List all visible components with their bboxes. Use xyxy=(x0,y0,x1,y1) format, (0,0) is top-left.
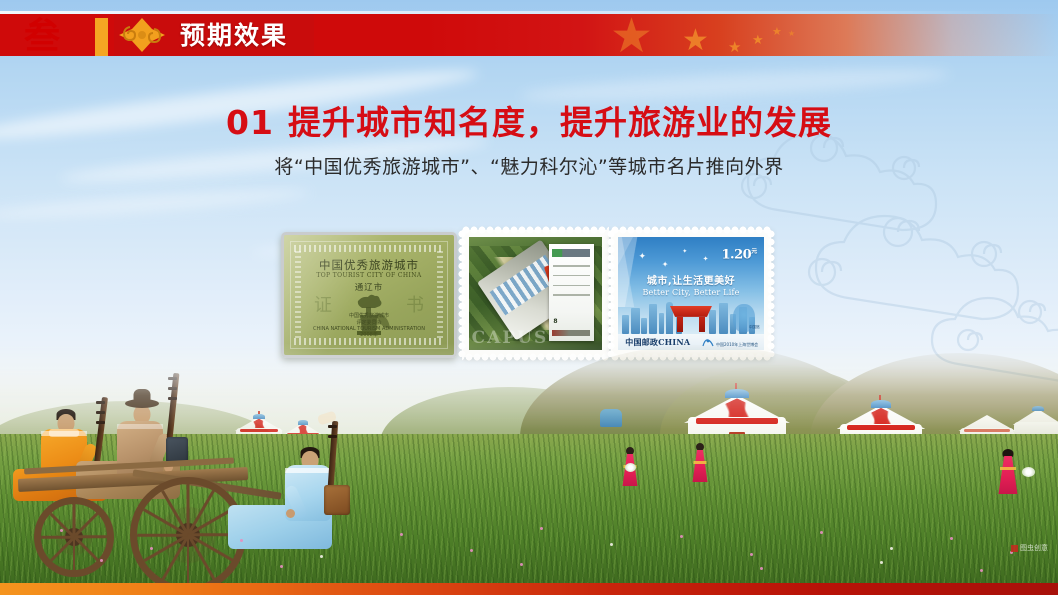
china-pavilion-icon xyxy=(670,306,712,332)
stamp-artwork: 8 CAPUS xyxy=(469,237,602,350)
cart-wheel xyxy=(34,497,114,577)
page-subtitle: 将“中国优秀旅游城市”、“魅力科尔沁”等城市名片推向外界 xyxy=(0,152,1058,179)
image-card-row: 中国优秀旅游城市 TOP TOURIST CITY OF CHINA 通辽市 证… xyxy=(0,228,1058,360)
stamp-perforation-right xyxy=(767,230,775,357)
cloud-streak xyxy=(0,185,310,224)
bird-icon: ✦ xyxy=(682,247,687,256)
postage-stamp-aerial-card[interactable]: 8 CAPUS xyxy=(462,230,609,357)
grassland-photograph: 图虫创意 xyxy=(0,343,1058,583)
section-number: 叁 xyxy=(24,18,60,56)
musicians-on-cart xyxy=(10,385,340,575)
stamp-perforation-left xyxy=(458,230,466,357)
headline-number: 01 xyxy=(226,103,274,142)
stamp-denomination: 8 xyxy=(553,318,557,325)
mongolian-cloud-ornament-icon xyxy=(116,15,168,55)
stamp-denomination: 1.20元 xyxy=(722,246,757,262)
inset-footer xyxy=(552,330,590,336)
postage-stamp-expo-card[interactable]: ✦ ✦ ✦ ✦ 1.20元 城市,让生活更美好 Better City, Bet… xyxy=(611,230,771,357)
stamp-inset-label: 8 xyxy=(549,244,594,341)
bird-icon: ✦ xyxy=(638,253,646,262)
stamp-perforation-left xyxy=(607,230,615,357)
musician-blue xyxy=(266,447,376,567)
pavilion-label: 中国馆 xyxy=(749,325,760,330)
stamp-artwork: ✦ ✦ ✦ ✦ 1.20元 城市,让生活更美好 Better City, Bet… xyxy=(618,237,764,350)
headline-text: 提升城市知名度，提升旅游业的发展 xyxy=(288,103,832,142)
banner-title: 预期效果 xyxy=(180,18,288,54)
page-title: 01提升城市知名度，提升旅游业的发展 xyxy=(0,96,1058,144)
inset-logo xyxy=(552,249,590,258)
bird-icon: ✦ xyxy=(703,255,709,264)
certificate-gloss xyxy=(284,235,454,355)
gold-star-decorations-icon: ★ ★ ★ ★ ★ ★ xyxy=(600,14,920,56)
bird-icon: ✦ xyxy=(662,260,669,269)
photo-watermark: 图虫创意 xyxy=(1011,543,1048,553)
watermark-mark-icon xyxy=(1011,545,1018,552)
slide-root: ★ ★ ★ ★ ★ ★ 叁 预期效果 01提升城市知名度，提升旅游业的发展 将“… xyxy=(0,0,1058,595)
certificate-plaque-card[interactable]: 中国优秀旅游城市 TOP TOURIST CITY OF CHINA 通辽市 证… xyxy=(281,232,457,358)
stamp-slogan-cn: 城市,让生活更美好 xyxy=(618,272,764,287)
yurt-blue xyxy=(600,409,622,427)
bottom-accent-bar xyxy=(0,583,1058,595)
orange-accent-bar xyxy=(95,18,108,56)
